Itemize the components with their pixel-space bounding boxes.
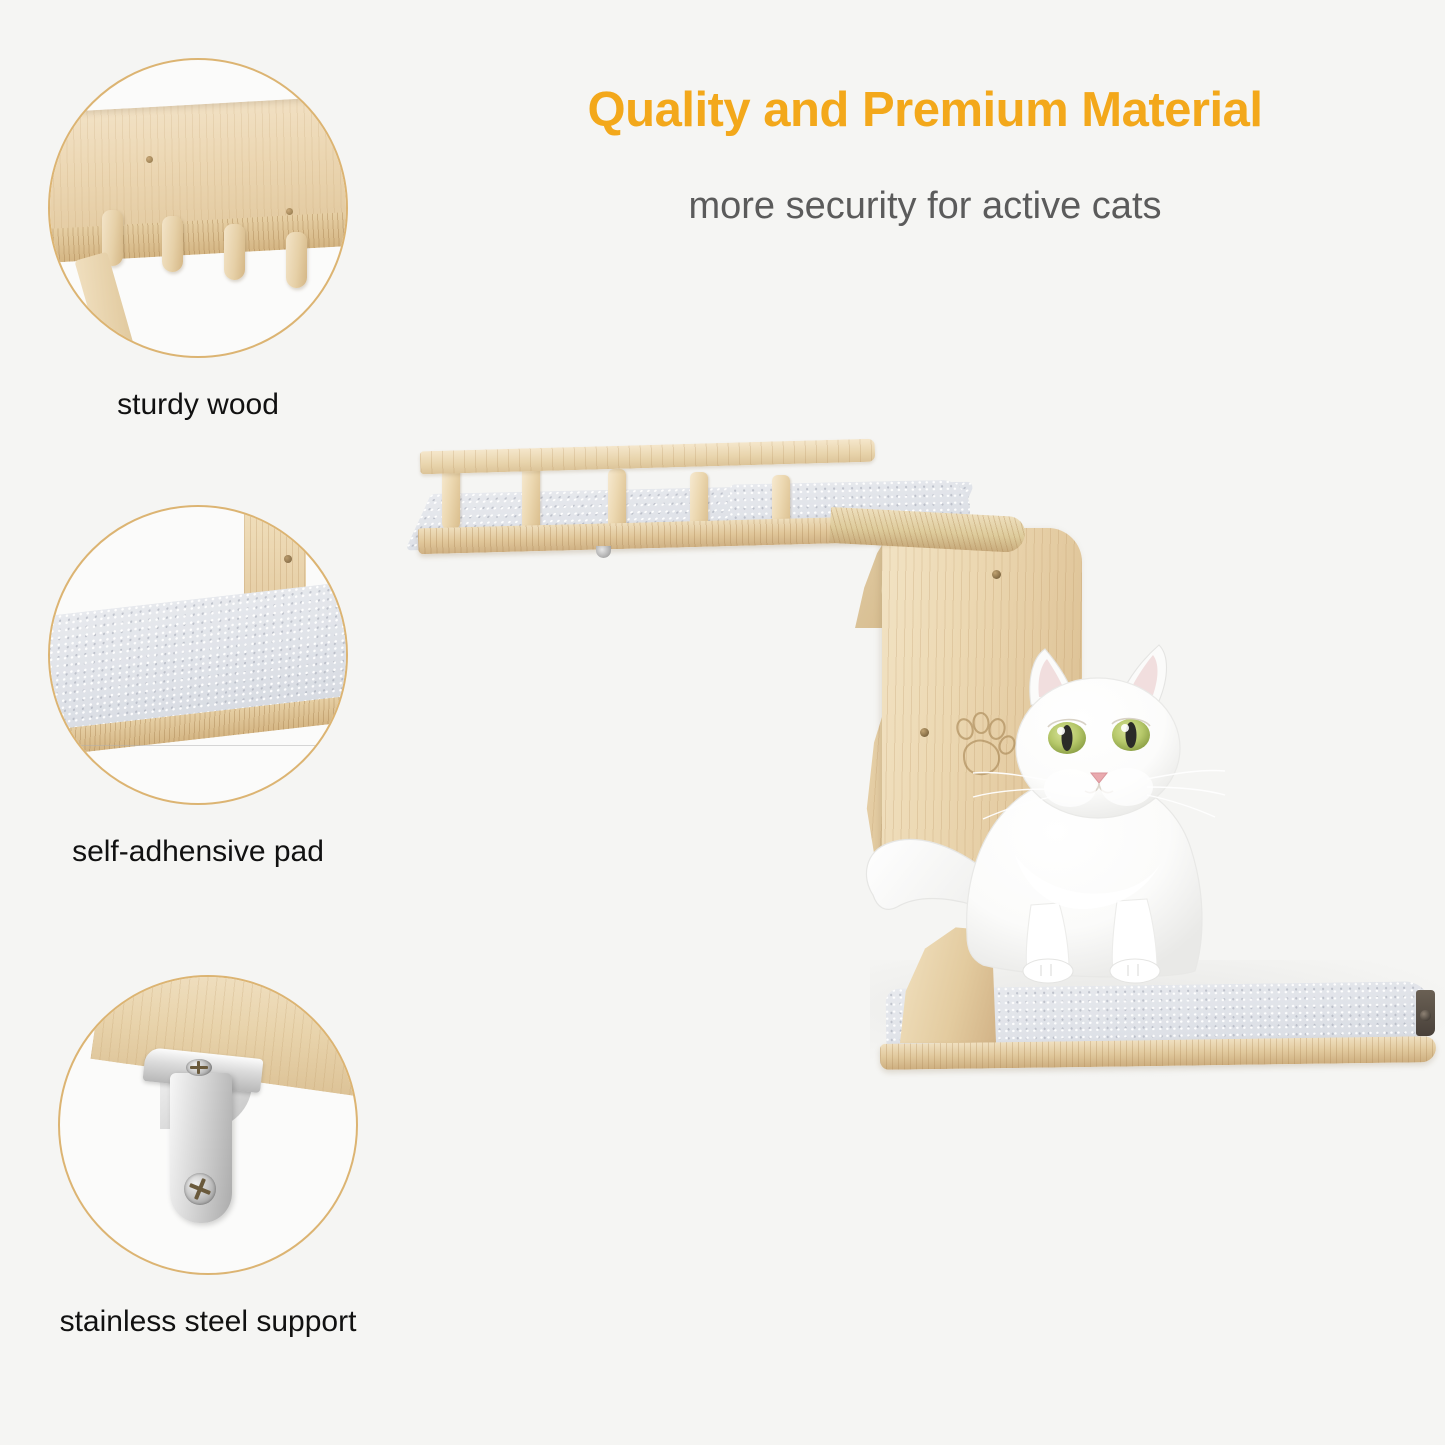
- shelf-mount-bracket-icon: [596, 546, 611, 558]
- callout-self-adhensive-pad: self-adhensive pad: [48, 505, 348, 805]
- screw-icon: [184, 1173, 216, 1205]
- product-photo: [400, 420, 1445, 1120]
- callout-sturdy-wood: sturdy wood: [48, 58, 348, 358]
- callout-circle-sturdy-wood: [48, 58, 348, 358]
- cat-paw: [1110, 959, 1160, 983]
- screw-icon: [286, 208, 293, 215]
- page-title: Quality and Premium Material: [430, 82, 1420, 138]
- railing-peg: [162, 216, 183, 272]
- shelf-mount-bracket-icon: [1416, 990, 1435, 1036]
- callout-label-stainless-steel-support: stainless steel support: [58, 1305, 358, 1339]
- callout-stainless-steel-support: stainless steel support: [58, 975, 358, 1275]
- screw-icon: [284, 555, 292, 563]
- callout-circle-stainless-steel-support: [58, 975, 358, 1275]
- railing-post: [442, 464, 460, 529]
- support-leg: [74, 252, 139, 358]
- cat-paw: [1023, 959, 1073, 983]
- product-marketing-image: Quality and Premium Material more securi…: [0, 0, 1445, 1445]
- callout-circle-self-adhensive-pad: [48, 505, 348, 805]
- railing-peg: [224, 224, 245, 280]
- screw-icon: [186, 1059, 212, 1076]
- screw-icon: [992, 570, 1001, 579]
- upper-shelf-front-edge: [829, 507, 1026, 553]
- cat-illustration: [855, 605, 1275, 1045]
- callout-label-sturdy-wood: sturdy wood: [48, 388, 348, 422]
- floor-line: [50, 745, 348, 746]
- callout-label-self-adhensive-pad: self-adhensive pad: [48, 835, 348, 869]
- screw-icon: [146, 156, 153, 163]
- page-subtitle: more security for active cats: [430, 185, 1420, 228]
- upper-shelf-top-rail: [420, 439, 875, 475]
- railing-peg: [286, 232, 307, 288]
- railing-post: [522, 466, 540, 531]
